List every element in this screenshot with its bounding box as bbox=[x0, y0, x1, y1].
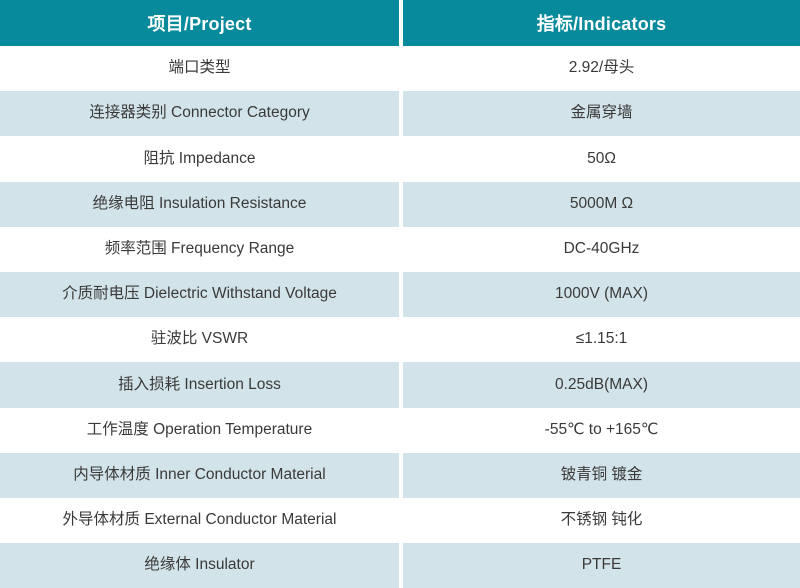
table-row: 介质耐电压 Dielectric Withstand Voltage1000V … bbox=[0, 272, 800, 317]
table-cell-indicators: 不锈钢 钝化 bbox=[403, 498, 800, 543]
table-cell-indicators: 1000V (MAX) bbox=[403, 272, 800, 317]
table-row: 工作温度 Operation Temperature-55℃ to +165℃ bbox=[0, 408, 800, 453]
table-cell-project: 绝缘电阻 Insulation Resistance bbox=[0, 182, 399, 227]
table-cell-project: 外导体材质 External Conductor Material bbox=[0, 498, 399, 543]
table-row: 绝缘电阻 Insulation Resistance5000M Ω bbox=[0, 182, 800, 227]
table-cell-project: 工作温度 Operation Temperature bbox=[0, 408, 399, 453]
table-cell-indicators: 金属穿墙 bbox=[403, 91, 800, 136]
table-cell-project: 连接器类别 Connector Category bbox=[0, 91, 399, 136]
table-body: 端口类型2.92/母头连接器类别 Connector Category金属穿墙阻… bbox=[0, 46, 800, 588]
table-cell-indicators: -55℃ to +165℃ bbox=[403, 408, 800, 453]
table-cell-indicators: 2.92/母头 bbox=[403, 46, 800, 91]
table-cell-project: 驻波比 VSWR bbox=[0, 317, 399, 362]
table-header-row: 项目/Project 指标/Indicators bbox=[0, 0, 800, 46]
column-header-indicators: 指标/Indicators bbox=[403, 0, 800, 46]
table-cell-project: 阻抗 Impedance bbox=[0, 136, 399, 181]
table-row: 绝缘体 InsulatorPTFE bbox=[0, 543, 800, 588]
table-row: 端口类型2.92/母头 bbox=[0, 46, 800, 91]
table-cell-indicators: 5000M Ω bbox=[403, 182, 800, 227]
table-row: 频率范围 Frequency RangeDC-40GHz bbox=[0, 227, 800, 272]
table-cell-project: 内导体材质 Inner Conductor Material bbox=[0, 453, 399, 498]
table-cell-project: 端口类型 bbox=[0, 46, 399, 91]
column-header-project: 项目/Project bbox=[0, 0, 399, 46]
table-row: 插入损耗 Insertion Loss0.25dB(MAX) bbox=[0, 362, 800, 407]
table-cell-project: 频率范围 Frequency Range bbox=[0, 227, 399, 272]
table-cell-indicators: 铍青铜 镀金 bbox=[403, 453, 800, 498]
table-cell-project: 插入损耗 Insertion Loss bbox=[0, 362, 399, 407]
table-cell-indicators: 50Ω bbox=[403, 136, 800, 181]
specification-table: 项目/Project 指标/Indicators 端口类型2.92/母头连接器类… bbox=[0, 0, 800, 588]
table-row: 阻抗 Impedance50Ω bbox=[0, 136, 800, 181]
table-cell-project: 介质耐电压 Dielectric Withstand Voltage bbox=[0, 272, 399, 317]
table-cell-indicators: 0.25dB(MAX) bbox=[403, 362, 800, 407]
table-cell-indicators: ≤1.15:1 bbox=[403, 317, 800, 362]
table-row: 连接器类别 Connector Category金属穿墙 bbox=[0, 91, 800, 136]
table-cell-indicators: PTFE bbox=[403, 543, 800, 588]
table-row: 外导体材质 External Conductor Material不锈钢 钝化 bbox=[0, 498, 800, 543]
table-cell-indicators: DC-40GHz bbox=[403, 227, 800, 272]
table-cell-project: 绝缘体 Insulator bbox=[0, 543, 399, 588]
table-row: 驻波比 VSWR≤1.15:1 bbox=[0, 317, 800, 362]
table-row: 内导体材质 Inner Conductor Material铍青铜 镀金 bbox=[0, 453, 800, 498]
